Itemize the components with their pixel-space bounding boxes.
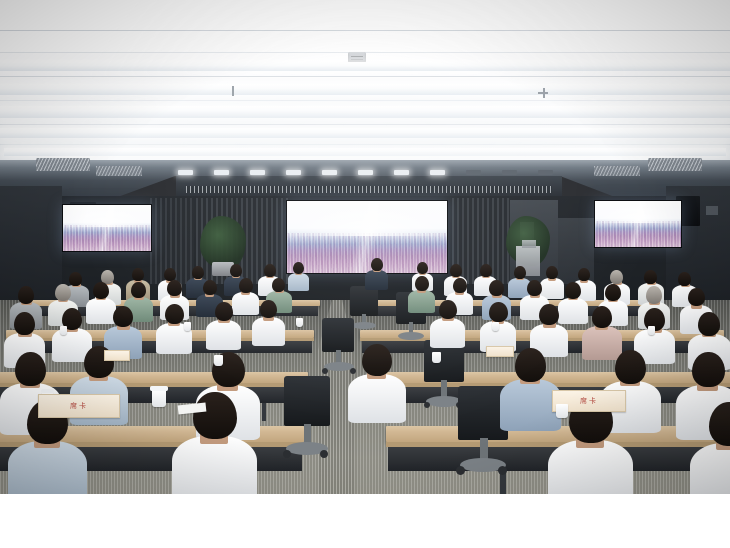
right-screen-cityscape: [595, 221, 681, 247]
audience-member-head: [644, 270, 657, 284]
bottom-whitespace: [0, 494, 730, 548]
ceiling-spotlight: [214, 170, 229, 175]
name-card-text: 席卡: [39, 401, 119, 411]
ceiling-light-strip: [4, 148, 726, 156]
right-led-screen: [594, 200, 682, 248]
ceiling-light-strip: [0, 106, 730, 118]
audience-member-head: [293, 262, 304, 274]
left-screen-cityscape: [63, 225, 151, 251]
audience-member-torso: [172, 436, 257, 494]
main-screen-sky: [287, 201, 447, 236]
ceiling-fitting: [232, 86, 234, 96]
audience-member-torso: [252, 317, 285, 346]
audience-member-head: [678, 272, 691, 286]
chair-caster: [322, 368, 328, 374]
chair-base: [398, 332, 424, 340]
audience-member-head: [578, 268, 590, 281]
tea-cup: [492, 322, 499, 331]
ceiling-spotlight: [466, 170, 481, 175]
chair-caster: [456, 466, 465, 475]
tea-cup: [556, 404, 568, 418]
task-chair: [350, 286, 378, 316]
ceiling-fitting: [538, 92, 548, 94]
audience-member-head: [192, 266, 204, 279]
audience-member-head: [439, 300, 457, 319]
tea-cup: [296, 318, 303, 327]
audience-member-head: [260, 300, 277, 318]
audience-member-head: [371, 258, 383, 271]
audience-member-head: [15, 352, 46, 386]
ceiling-light-strip: [0, 84, 730, 95]
audience-member-torso: [288, 273, 309, 291]
audience-member-head: [646, 286, 662, 304]
audience-member-torso: [206, 320, 241, 350]
audience-member-head: [615, 350, 646, 384]
audience-member-head: [131, 282, 146, 298]
air-vent-grille: [36, 158, 90, 171]
audience-member-head: [539, 304, 559, 325]
audience-member-head: [514, 266, 526, 279]
tea-cup: [184, 322, 191, 331]
audience-member-head: [239, 278, 253, 293]
audience-member-head: [93, 282, 109, 299]
tea-cup: [214, 355, 223, 366]
audience-member-head: [264, 264, 276, 277]
conference-room-photo: 席卡 席卡: [0, 0, 730, 494]
audience-member-head: [230, 264, 242, 277]
tea-cup: [60, 326, 67, 335]
ceiling-seam: [0, 124, 730, 125]
name-card: 席卡: [38, 394, 120, 418]
ceiling-spotlight: [178, 170, 193, 175]
air-vent-grille: [648, 158, 702, 171]
ceiling-light-strip: [0, 128, 730, 138]
chair-base: [352, 322, 376, 329]
audience-member-torso: [558, 298, 588, 324]
audience-member-head: [14, 312, 35, 335]
task-chair: [284, 376, 330, 426]
ceiling-spotlight: [502, 170, 517, 175]
ceiling-spotlight: [358, 170, 373, 175]
audience-member-head: [610, 270, 623, 284]
audience-member-head: [415, 276, 429, 291]
audience-member-torso: [365, 270, 388, 290]
audience-member-head: [605, 284, 621, 301]
ceiling-spotlight: [538, 170, 553, 175]
audience-member-head: [453, 278, 467, 293]
audience-member-head: [698, 312, 720, 336]
audience-member-head: [489, 302, 508, 322]
ceiling-light-strip: [0, 62, 730, 71]
audience-member-torso: [8, 441, 87, 494]
spotlight-row: [178, 170, 558, 178]
audience-member-head: [515, 348, 546, 382]
ceiling-seam: [0, 76, 730, 77]
chair-caster: [320, 450, 328, 458]
table-row: [0, 372, 308, 383]
ceiling-seam: [0, 144, 730, 145]
audience-member-head: [215, 302, 233, 321]
name-card: [104, 350, 130, 361]
ceiling-spotlight: [250, 170, 265, 175]
audience-member-head: [113, 306, 133, 327]
audience-member-head: [527, 280, 542, 296]
ceiling-spotlight: [394, 170, 409, 175]
audience-member-torso: [232, 292, 259, 315]
audience-member-head: [69, 272, 82, 286]
audience-member-head: [489, 280, 504, 296]
ceiling-seam: [0, 30, 730, 31]
audience-member-head: [546, 266, 558, 279]
air-vent-grille: [96, 166, 142, 176]
name-card: [486, 346, 514, 357]
audience-member-head: [203, 280, 217, 295]
task-chair: [322, 318, 354, 352]
chair-caster: [424, 402, 430, 408]
audience-member-head: [565, 282, 581, 299]
audience-member-head: [55, 284, 71, 301]
air-vent-grille: [594, 166, 640, 176]
tea-cup-lid: [150, 386, 168, 391]
chair-caster: [283, 450, 291, 458]
audience-member-head: [417, 262, 428, 274]
audience-member-head: [450, 264, 462, 277]
audience-member-head: [167, 280, 182, 296]
tea-cup-lid: [41, 389, 54, 393]
ceiling-spotlight: [286, 170, 301, 175]
audience-member-head: [592, 306, 612, 328]
audience-member-head: [193, 392, 237, 439]
audience-member-torso: [408, 290, 435, 313]
audience-member-torso: [582, 326, 622, 360]
audience-member-head: [18, 286, 34, 304]
audience-member-head: [480, 264, 492, 277]
ceiling-spotlight: [322, 170, 337, 175]
audience-member-head: [165, 304, 184, 324]
audience-member-torso: [86, 298, 116, 324]
audience-member-head: [688, 288, 705, 306]
tea-cup: [432, 352, 441, 363]
lectern-top: [522, 240, 536, 248]
left-screen-sky: [63, 205, 151, 227]
audience-member-torso: [430, 318, 465, 348]
ceiling-seam: [0, 100, 730, 101]
audience-member-head: [362, 344, 392, 376]
tea-cup: [648, 326, 655, 335]
lighting-truss: [186, 186, 552, 193]
chair-caster: [498, 466, 507, 475]
audience-member-torso: [548, 440, 633, 494]
right-screen-sky: [595, 201, 681, 223]
wall-sign: [706, 206, 718, 215]
table-leg: [262, 403, 266, 421]
audience-member-torso: [348, 374, 406, 423]
audience-member-head: [272, 278, 285, 292]
ceiling-spotlight: [430, 170, 445, 175]
audience-member-head: [132, 268, 144, 281]
screenshot-root: 席卡 席卡: [0, 0, 730, 548]
tea-cup: [152, 390, 166, 407]
audience-member-head: [692, 352, 725, 387]
left-led-screen: [62, 204, 152, 252]
chair-caster: [350, 368, 356, 374]
